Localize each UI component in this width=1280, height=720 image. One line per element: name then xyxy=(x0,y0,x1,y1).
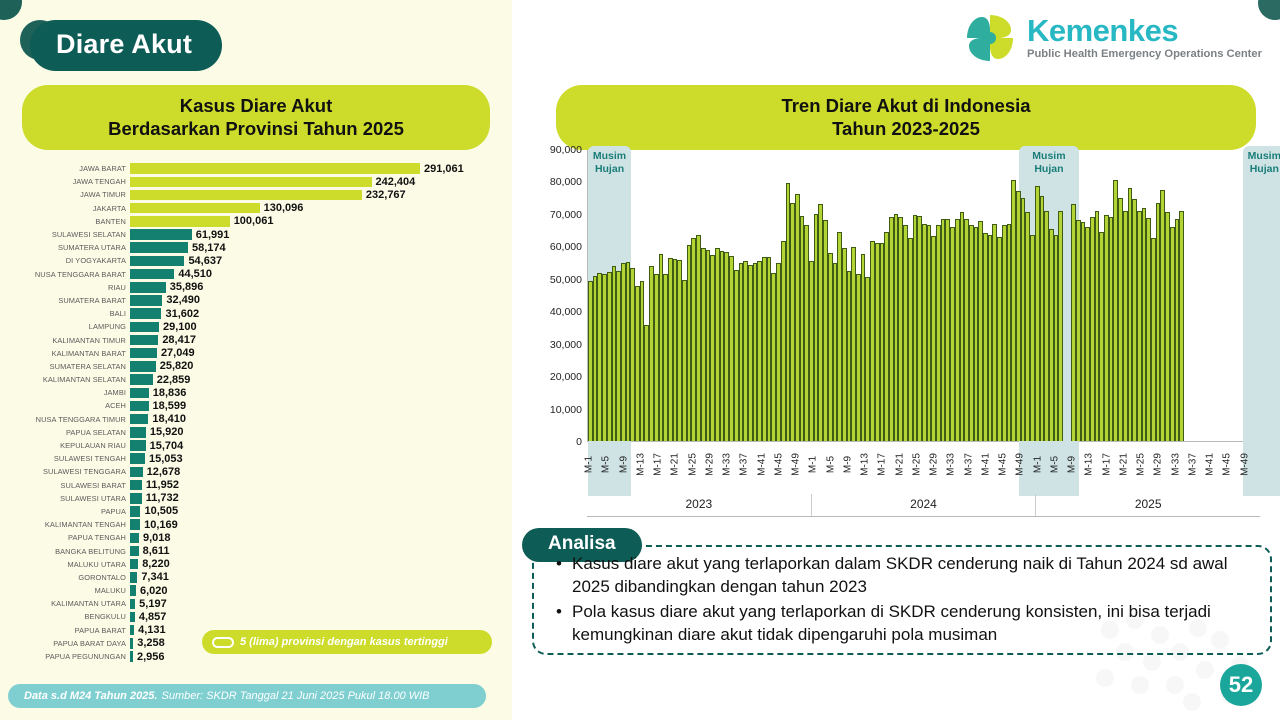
province-label: JAWA BARAT xyxy=(0,164,130,173)
province-label: NUSA TENGGARA BARAT xyxy=(0,270,130,279)
province-bar-wrap: 35,896 xyxy=(130,281,512,294)
province-row: SULAWESI BARAT11,952 xyxy=(0,479,512,492)
legend-swatch-icon xyxy=(212,637,234,648)
province-value: 11,732 xyxy=(146,492,179,504)
province-value: 28,417 xyxy=(162,334,196,346)
province-bar xyxy=(130,203,260,214)
province-value: 35,896 xyxy=(170,281,204,293)
province-value: 232,767 xyxy=(366,189,406,201)
trend-y-tick: 20,000 xyxy=(550,371,582,383)
province-label: SULAWESI UTARA xyxy=(0,494,130,503)
province-label: BANGKA BELITUNG xyxy=(0,547,130,556)
page-title: Diare Akut xyxy=(30,20,222,71)
province-bar xyxy=(130,599,135,610)
province-bar-wrap: 6,020 xyxy=(130,584,512,597)
trend-chart-title: Tren Diare Akut di Indonesia Tahun 2023-… xyxy=(556,85,1256,150)
province-value: 9,018 xyxy=(143,532,171,544)
trend-y-tick: 30,000 xyxy=(550,339,582,351)
province-value: 18,599 xyxy=(153,400,187,412)
province-bar-wrap: 10,169 xyxy=(130,518,512,531)
province-bar-wrap: 32,490 xyxy=(130,294,512,307)
legend-top5: 5 (lima) provinsi dengan kasus tertinggi xyxy=(202,630,492,654)
province-value: 61,991 xyxy=(196,229,230,241)
province-row: LAMPUNG29,100 xyxy=(0,320,512,333)
province-bar xyxy=(130,559,138,570)
province-bar xyxy=(130,216,230,227)
province-label: NUSA TENGGARA TIMUR xyxy=(0,415,130,424)
province-bar-wrap: 15,053 xyxy=(130,452,512,465)
province-value: 54,637 xyxy=(188,255,222,267)
analisa-list: •Kasus diare akut yang terlaporkan dalam… xyxy=(556,552,1256,648)
province-bar-wrap: 31,602 xyxy=(130,307,512,320)
province-row: KALIMANTAN UTARA5,197 xyxy=(0,597,512,610)
province-row: SULAWESI TENGAH15,053 xyxy=(0,452,512,465)
right-panel: Kemenkes Public Health Emergency Operati… xyxy=(512,0,1280,720)
province-label: BENGKULU xyxy=(0,612,130,621)
province-bar-wrap: 10,505 xyxy=(130,505,512,518)
province-chart-title: Kasus Diare Akut Berdasarkan Provinsi Ta… xyxy=(22,85,490,150)
trend-y-tick: 80,000 xyxy=(550,176,582,188)
province-bar-wrap: 11,732 xyxy=(130,492,512,505)
province-bar-wrap: 291,061 xyxy=(130,162,512,175)
province-bar xyxy=(130,388,149,399)
province-bar xyxy=(130,625,134,636)
province-bar xyxy=(130,519,140,530)
province-bar-wrap: 54,637 xyxy=(130,254,512,267)
province-bar xyxy=(130,533,139,544)
province-bar-wrap: 9,018 xyxy=(130,531,512,544)
province-value: 2,956 xyxy=(137,651,165,663)
province-bar xyxy=(130,585,136,596)
province-row: KALIMANTAN TENGAH10,169 xyxy=(0,518,512,531)
province-value: 25,820 xyxy=(160,360,194,372)
source-note: Data s.d M24 Tahun 2025. Sumber: SKDR Ta… xyxy=(8,684,486,708)
province-bar-wrap: 25,820 xyxy=(130,360,512,373)
province-bar-wrap: 100,061 xyxy=(130,215,512,228)
trend-bar xyxy=(1179,211,1184,441)
province-bar xyxy=(130,282,166,293)
province-bar-wrap: 22,859 xyxy=(130,373,512,386)
province-row: PAPUA TENGAH9,018 xyxy=(0,531,512,544)
province-bar-wrap: 12,678 xyxy=(130,465,512,478)
analisa-item: •Pola kasus diare akut yang terlaporkan … xyxy=(556,600,1256,646)
province-value: 15,920 xyxy=(150,426,184,438)
province-label: KALIMANTAN UTARA xyxy=(0,599,130,608)
province-label: SUMATERA BARAT xyxy=(0,296,130,305)
province-value: 27,049 xyxy=(161,347,195,359)
province-row: RIAU35,896 xyxy=(0,281,512,294)
logo-subtitle: Public Health Emergency Operations Cente… xyxy=(1027,49,1262,60)
province-bar xyxy=(130,242,188,253)
province-value: 15,704 xyxy=(150,440,184,452)
province-row: PAPUA10,505 xyxy=(0,505,512,518)
trend-bar xyxy=(1058,211,1063,441)
province-bar xyxy=(130,651,133,662)
province-label: KALIMANTAN BARAT xyxy=(0,349,130,358)
province-value: 4,131 xyxy=(138,624,166,636)
province-label: PAPUA SELATAN xyxy=(0,428,130,437)
province-row: ACEH18,599 xyxy=(0,399,512,412)
province-bar xyxy=(130,612,135,623)
province-bar-wrap: 130,096 xyxy=(130,202,512,215)
province-bar-wrap: 15,920 xyxy=(130,426,512,439)
province-row: PAPUA SELATAN15,920 xyxy=(0,426,512,439)
province-bar xyxy=(130,493,142,504)
province-row: DI YOGYAKARTA54,637 xyxy=(0,254,512,267)
province-label: JAWA TENGAH xyxy=(0,177,130,186)
province-row: KEPULAUAN RIAU15,704 xyxy=(0,439,512,452)
province-value: 11,952 xyxy=(146,479,179,491)
province-row: SUMATERA SELATAN25,820 xyxy=(0,360,512,373)
province-label: BALI xyxy=(0,309,130,318)
province-value: 29,100 xyxy=(163,321,197,333)
province-value: 5,197 xyxy=(139,598,167,610)
province-value: 291,061 xyxy=(424,163,464,175)
left-panel: Diare Akut Kasus Diare Akut Berdasarkan … xyxy=(0,0,512,720)
province-bar xyxy=(130,453,145,464)
page-number-badge: 52 xyxy=(1220,664,1262,706)
province-value: 242,404 xyxy=(376,176,416,188)
decor-circle-icon xyxy=(0,0,22,20)
province-bar xyxy=(130,467,143,478)
province-row: MALUKU6,020 xyxy=(0,584,512,597)
province-bar-wrap: 29,100 xyxy=(130,320,512,333)
logo-name: Kemenkes xyxy=(1027,15,1262,46)
province-value: 10,169 xyxy=(144,519,178,531)
province-row: SULAWESI TENGGARA12,678 xyxy=(0,465,512,478)
province-label: SUMATERA SELATAN xyxy=(0,362,130,371)
province-bar xyxy=(130,506,140,517)
province-label: SULAWESI SELATAN xyxy=(0,230,130,239)
analisa-item: •Kasus diare akut yang terlaporkan dalam… xyxy=(556,552,1256,598)
province-row: SULAWESI UTARA11,732 xyxy=(0,492,512,505)
province-label: MALUKU UTARA xyxy=(0,560,130,569)
province-bar xyxy=(130,190,362,201)
province-row: BANTEN100,061 xyxy=(0,215,512,228)
province-label: ACEH xyxy=(0,401,130,410)
province-label: SUMATERA UTARA xyxy=(0,243,130,252)
province-label: KEPULAUAN RIAU xyxy=(0,441,130,450)
province-value: 7,341 xyxy=(141,571,169,583)
province-bar xyxy=(130,308,161,319)
province-bar xyxy=(130,269,174,280)
province-value: 100,061 xyxy=(234,215,274,227)
trend-bars xyxy=(588,150,1260,441)
bullet-icon: • xyxy=(556,600,572,646)
province-bar xyxy=(130,427,146,438)
province-label: DI YOGYAKARTA xyxy=(0,256,130,265)
province-bar xyxy=(130,480,142,491)
province-row: BANGKA BELITUNG8,611 xyxy=(0,544,512,557)
province-row: SUMATERA UTARA58,174 xyxy=(0,241,512,254)
province-label: RIAU xyxy=(0,283,130,292)
province-bar xyxy=(130,163,420,174)
province-label: PAPUA xyxy=(0,507,130,516)
province-bar xyxy=(130,638,133,649)
province-bar xyxy=(130,546,139,557)
province-label: MALUKU xyxy=(0,586,130,595)
province-bar xyxy=(130,440,146,451)
province-bar-wrap: 44,510 xyxy=(130,268,512,281)
province-bar-chart: JAWA BARAT291,061JAWA TENGAH242,404JAWA … xyxy=(0,162,512,638)
trend-y-tick: 60,000 xyxy=(550,241,582,253)
province-label: PAPUA PEGUNUNGAN xyxy=(0,652,130,661)
province-value: 22,859 xyxy=(157,374,191,386)
province-value: 4,857 xyxy=(139,611,167,623)
province-bar-wrap: 18,599 xyxy=(130,399,512,412)
province-label: SULAWESI TENGAH xyxy=(0,454,130,463)
province-bar-wrap: 7,341 xyxy=(130,571,512,584)
province-value: 32,490 xyxy=(166,294,200,306)
province-bar-wrap: 8,611 xyxy=(130,544,512,557)
province-label: PAPUA BARAT xyxy=(0,626,130,635)
trend-x-axis: M-1M-5M-9M-13M-17M-21M-25M-29M-33M-37M-4… xyxy=(587,442,1260,494)
province-value: 8,611 xyxy=(143,545,170,557)
province-value: 12,678 xyxy=(147,466,181,478)
province-label: BANTEN xyxy=(0,217,130,226)
province-bar-wrap: 27,049 xyxy=(130,347,512,360)
province-value: 15,053 xyxy=(149,453,183,465)
province-row: NUSA TENGGARA BARAT44,510 xyxy=(0,268,512,281)
province-bar-wrap: 28,417 xyxy=(130,333,512,346)
province-bar xyxy=(130,322,159,333)
province-value: 3,258 xyxy=(137,637,165,649)
slide-page: Diare Akut Kasus Diare Akut Berdasarkan … xyxy=(0,0,1280,720)
province-label: SULAWESI TENGGARA xyxy=(0,467,130,476)
province-value: 44,510 xyxy=(178,268,212,280)
trend-x-cell xyxy=(1255,442,1259,494)
province-row: JAWA TENGAH242,404 xyxy=(0,175,512,188)
province-label: JAMBI xyxy=(0,388,130,397)
province-row: GORONTALO7,341 xyxy=(0,571,512,584)
province-row: KALIMANTAN SELATAN22,859 xyxy=(0,373,512,386)
source-note-bold: Data s.d M24 Tahun 2025. xyxy=(24,690,157,702)
trend-y-axis: 010,00020,00030,00040,00050,00060,00070,… xyxy=(532,150,586,442)
province-bar-wrap: 61,991 xyxy=(130,228,512,241)
trend-chart-title-line1: Tren Diare Akut di Indonesia xyxy=(566,94,1246,117)
province-value: 18,836 xyxy=(153,387,187,399)
province-bar-wrap: 15,704 xyxy=(130,439,512,452)
province-bar-wrap: 18,410 xyxy=(130,413,512,426)
legend-label: 5 (lima) provinsi dengan kasus tertinggi xyxy=(240,636,448,648)
province-bar xyxy=(130,229,192,240)
trend-plot-area: MusimHujanMusimHujanMusimHujan xyxy=(587,150,1260,442)
province-row: NUSA TENGGARA TIMUR18,410 xyxy=(0,413,512,426)
province-value: 18,410 xyxy=(152,413,186,425)
province-bar xyxy=(130,177,372,188)
province-label: KALIMANTAN TENGAH xyxy=(0,520,130,529)
province-bar xyxy=(130,572,137,583)
province-bar-wrap: 11,952 xyxy=(130,479,512,492)
province-label: KALIMANTAN SELATAN xyxy=(0,375,130,384)
province-value: 31,602 xyxy=(165,308,199,320)
province-bar-wrap: 232,767 xyxy=(130,188,512,201)
trend-chart-title-line2: Tahun 2023-2025 xyxy=(566,117,1246,140)
province-label: KALIMANTAN TIMUR xyxy=(0,336,130,345)
analisa-item-text: Kasus diare akut yang terlaporkan dalam … xyxy=(572,552,1256,598)
province-label: GORONTALO xyxy=(0,573,130,582)
province-label: SULAWESI BARAT xyxy=(0,481,130,490)
province-row: JAMBI18,836 xyxy=(0,386,512,399)
province-bar-wrap: 58,174 xyxy=(130,241,512,254)
province-label: PAPUA BARAT DAYA xyxy=(0,639,130,648)
province-row: JAWA BARAT291,061 xyxy=(0,162,512,175)
province-value: 130,096 xyxy=(264,202,304,214)
trend-y-tick: 90,000 xyxy=(550,144,582,156)
trend-y-tick: 0 xyxy=(576,436,582,448)
trend-baseline xyxy=(587,516,1260,517)
trend-y-tick: 50,000 xyxy=(550,274,582,286)
bullet-icon: • xyxy=(556,552,572,598)
trend-year-axis: 202320242025 xyxy=(587,494,1260,516)
source-note-rest: Sumber: SKDR Tanggal 21 Juni 2025 Pukul … xyxy=(161,690,429,702)
province-label: JAKARTA xyxy=(0,204,130,213)
province-label: LAMPUNG xyxy=(0,322,130,331)
province-bar xyxy=(130,348,157,359)
province-bar xyxy=(130,335,158,346)
province-label: JAWA TIMUR xyxy=(0,190,130,199)
province-row: KALIMANTAN BARAT27,049 xyxy=(0,347,512,360)
province-bar-wrap: 8,220 xyxy=(130,558,512,571)
province-row: KALIMANTAN TIMUR28,417 xyxy=(0,333,512,346)
province-bar xyxy=(130,414,148,425)
province-value: 10,505 xyxy=(144,505,178,517)
province-bar-wrap: 18,836 xyxy=(130,386,512,399)
province-chart-title-line2: Berdasarkan Provinsi Tahun 2025 xyxy=(32,117,480,140)
kemenkes-logo-mark-icon xyxy=(962,10,1018,66)
province-row: SULAWESI SELATAN61,991 xyxy=(0,228,512,241)
province-bar-wrap: 242,404 xyxy=(130,175,512,188)
trend-year-label: 2023 xyxy=(587,494,811,516)
province-bar xyxy=(130,295,162,306)
province-bar xyxy=(130,374,153,385)
province-value: 58,174 xyxy=(192,242,226,254)
province-row: JAWA TIMUR232,767 xyxy=(0,188,512,201)
province-row: MALUKU UTARA8,220 xyxy=(0,558,512,571)
province-bar xyxy=(130,401,149,412)
kemenkes-logo: Kemenkes Public Health Emergency Operati… xyxy=(962,10,1262,66)
trend-year-label: 2024 xyxy=(811,494,1036,516)
province-bar-wrap: 4,857 xyxy=(130,610,512,623)
province-row: SUMATERA BARAT32,490 xyxy=(0,294,512,307)
province-row: BENGKULU4,857 xyxy=(0,610,512,623)
analisa-item-text: Pola kasus diare akut yang terlaporkan d… xyxy=(572,600,1256,646)
trend-chart: 010,00020,00030,00040,00050,00060,00070,… xyxy=(532,150,1272,520)
province-bar xyxy=(130,361,156,372)
province-label: PAPUA TENGAH xyxy=(0,533,130,542)
trend-year-label: 2025 xyxy=(1035,494,1260,516)
trend-y-tick: 10,000 xyxy=(550,404,582,416)
province-bar-wrap: 5,197 xyxy=(130,597,512,610)
province-value: 6,020 xyxy=(140,585,168,597)
province-value: 8,220 xyxy=(142,558,170,570)
province-chart-title-line1: Kasus Diare Akut xyxy=(32,94,480,117)
province-bar xyxy=(130,256,184,267)
province-row: JAKARTA130,096 xyxy=(0,202,512,215)
trend-y-tick: 40,000 xyxy=(550,306,582,318)
trend-y-tick: 70,000 xyxy=(550,209,582,221)
province-row: BALI31,602 xyxy=(0,307,512,320)
